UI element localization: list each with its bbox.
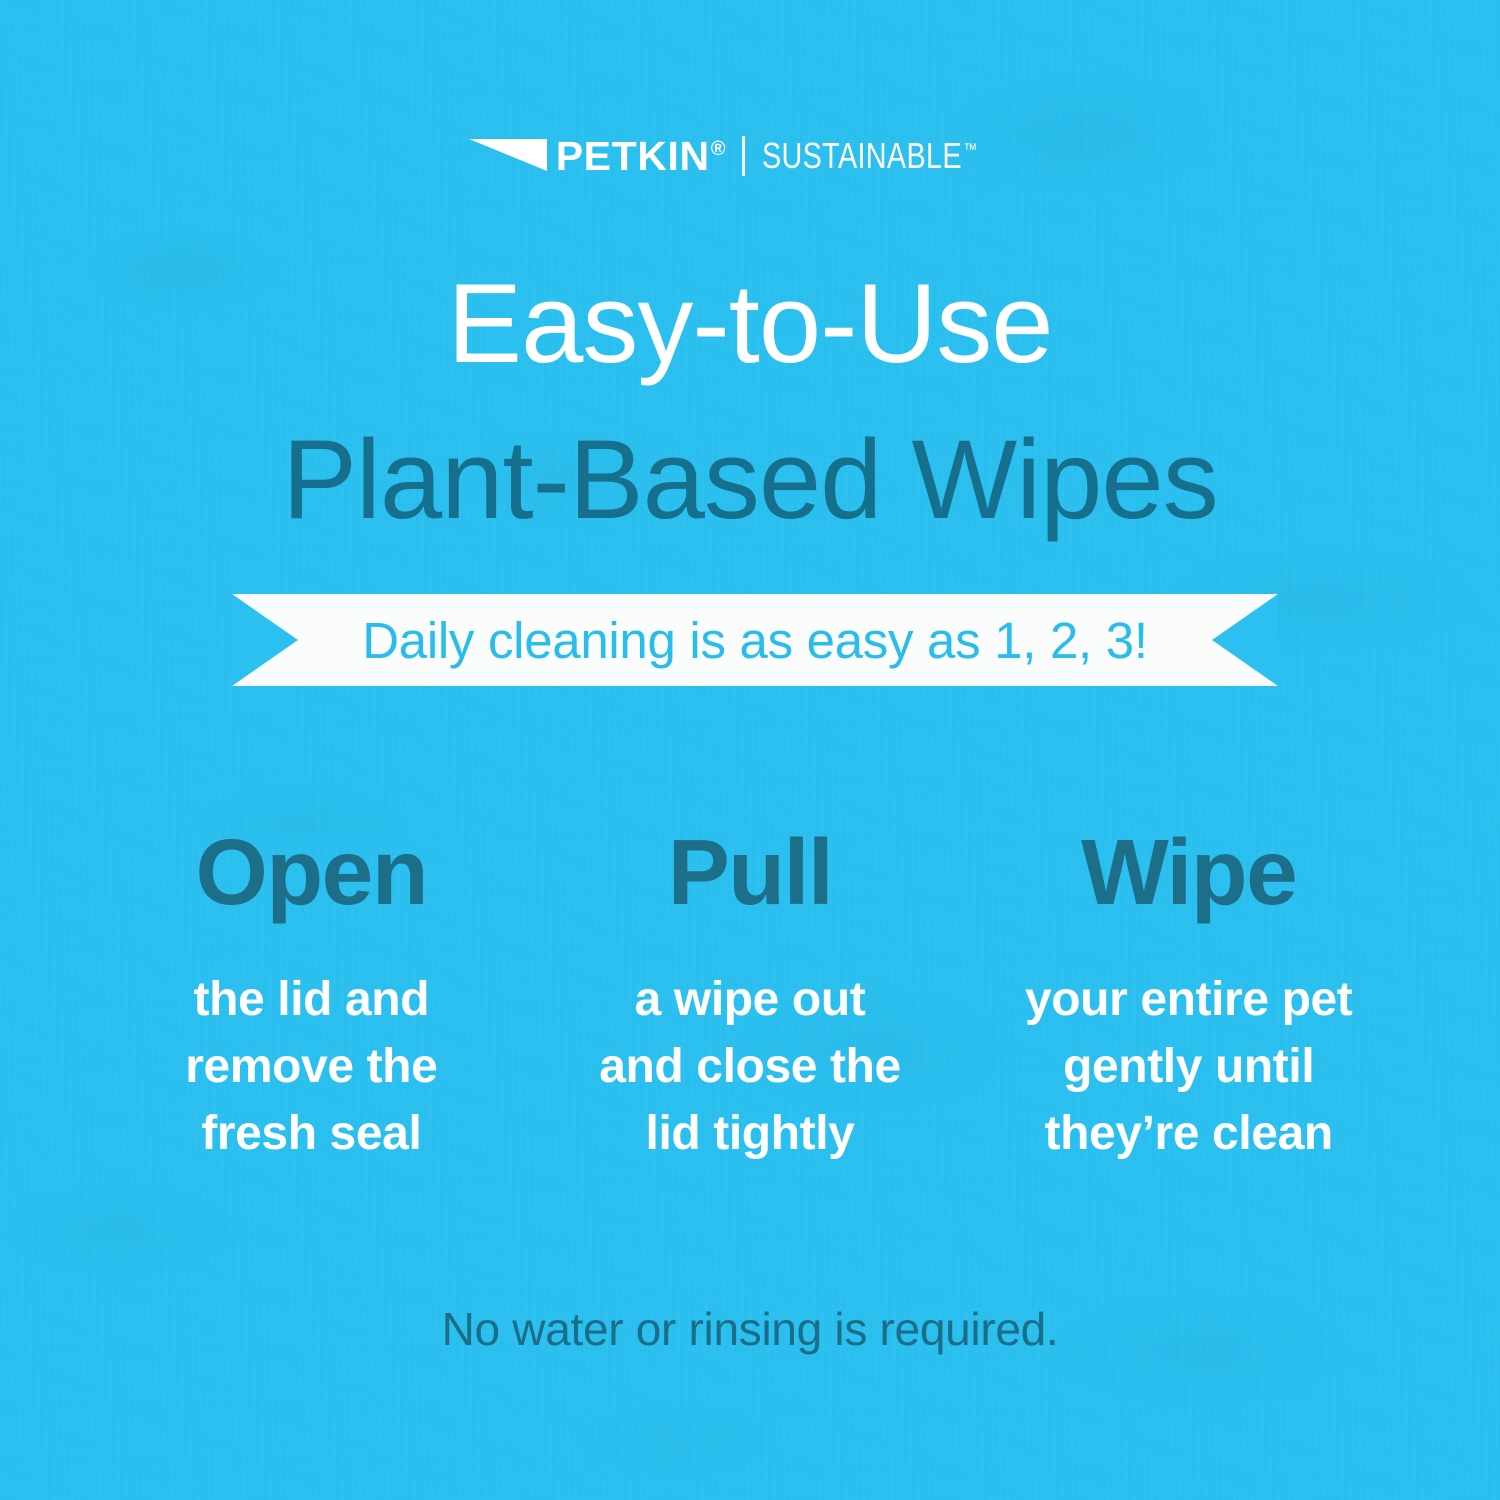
brand-name-text: PETKIN [556, 133, 710, 179]
poster-content: PETKIN® SUSTAINABLE™ Easy-to-Use Plant-B… [0, 0, 1500, 1500]
step-open: Open the lid and remove the fresh seal [92, 826, 531, 1168]
ribbon-notch-right-icon [1212, 594, 1278, 686]
ribbon-notch-left-icon [232, 594, 298, 686]
step-body-line: fresh seal [92, 1100, 531, 1167]
brand-sub-text: SUSTAINABLE [762, 135, 962, 176]
step-body: a wipe out and close the lid tightly [531, 966, 970, 1168]
step-title: Pull [531, 826, 970, 919]
step-body: your entire pet gently until they’re cle… [969, 966, 1408, 1168]
step-wipe: Wipe your entire pet gently until they’r… [969, 826, 1408, 1168]
headline-line-1: Easy-to-Use [0, 268, 1500, 380]
step-body-line: and close the [531, 1033, 970, 1100]
brand-divider [742, 136, 745, 176]
steps-row: Open the lid and remove the fresh seal P… [92, 826, 1408, 1168]
poster-canvas: PETKIN® SUSTAINABLE™ Easy-to-Use Plant-B… [0, 0, 1500, 1500]
footer-note: No water or rinsing is required. [0, 1306, 1500, 1352]
brand-sub: SUSTAINABLE™ [762, 138, 977, 174]
step-body-line: gently until [969, 1033, 1408, 1100]
step-body-line: lid tightly [531, 1100, 970, 1167]
trademark-icon: ™ [963, 140, 977, 159]
step-pull: Pull a wipe out and close the lid tightl… [531, 826, 970, 1168]
step-body-line: remove the [92, 1033, 531, 1100]
step-title: Wipe [969, 826, 1408, 919]
step-title: Open [92, 826, 531, 919]
headline-line-2: Plant-Based Wipes [0, 424, 1500, 536]
step-body-line: your entire pet [969, 966, 1408, 1033]
step-body-line: a wipe out [531, 966, 970, 1033]
step-body-line: the lid and [92, 966, 531, 1033]
ribbon-banner: Daily cleaning is as easy as 1, 2, 3! [232, 594, 1278, 686]
brand-name: PETKIN® [556, 136, 726, 177]
registered-trademark-icon: ® [711, 138, 726, 160]
petkin-wedge-mark-icon [469, 137, 547, 173]
step-body: the lid and remove the fresh seal [92, 966, 531, 1168]
ribbon-text: Daily cleaning is as easy as 1, 2, 3! [362, 615, 1147, 666]
brand-lockup: PETKIN® SUSTAINABLE™ [0, 132, 1500, 180]
step-body-line: they’re clean [969, 1100, 1408, 1167]
